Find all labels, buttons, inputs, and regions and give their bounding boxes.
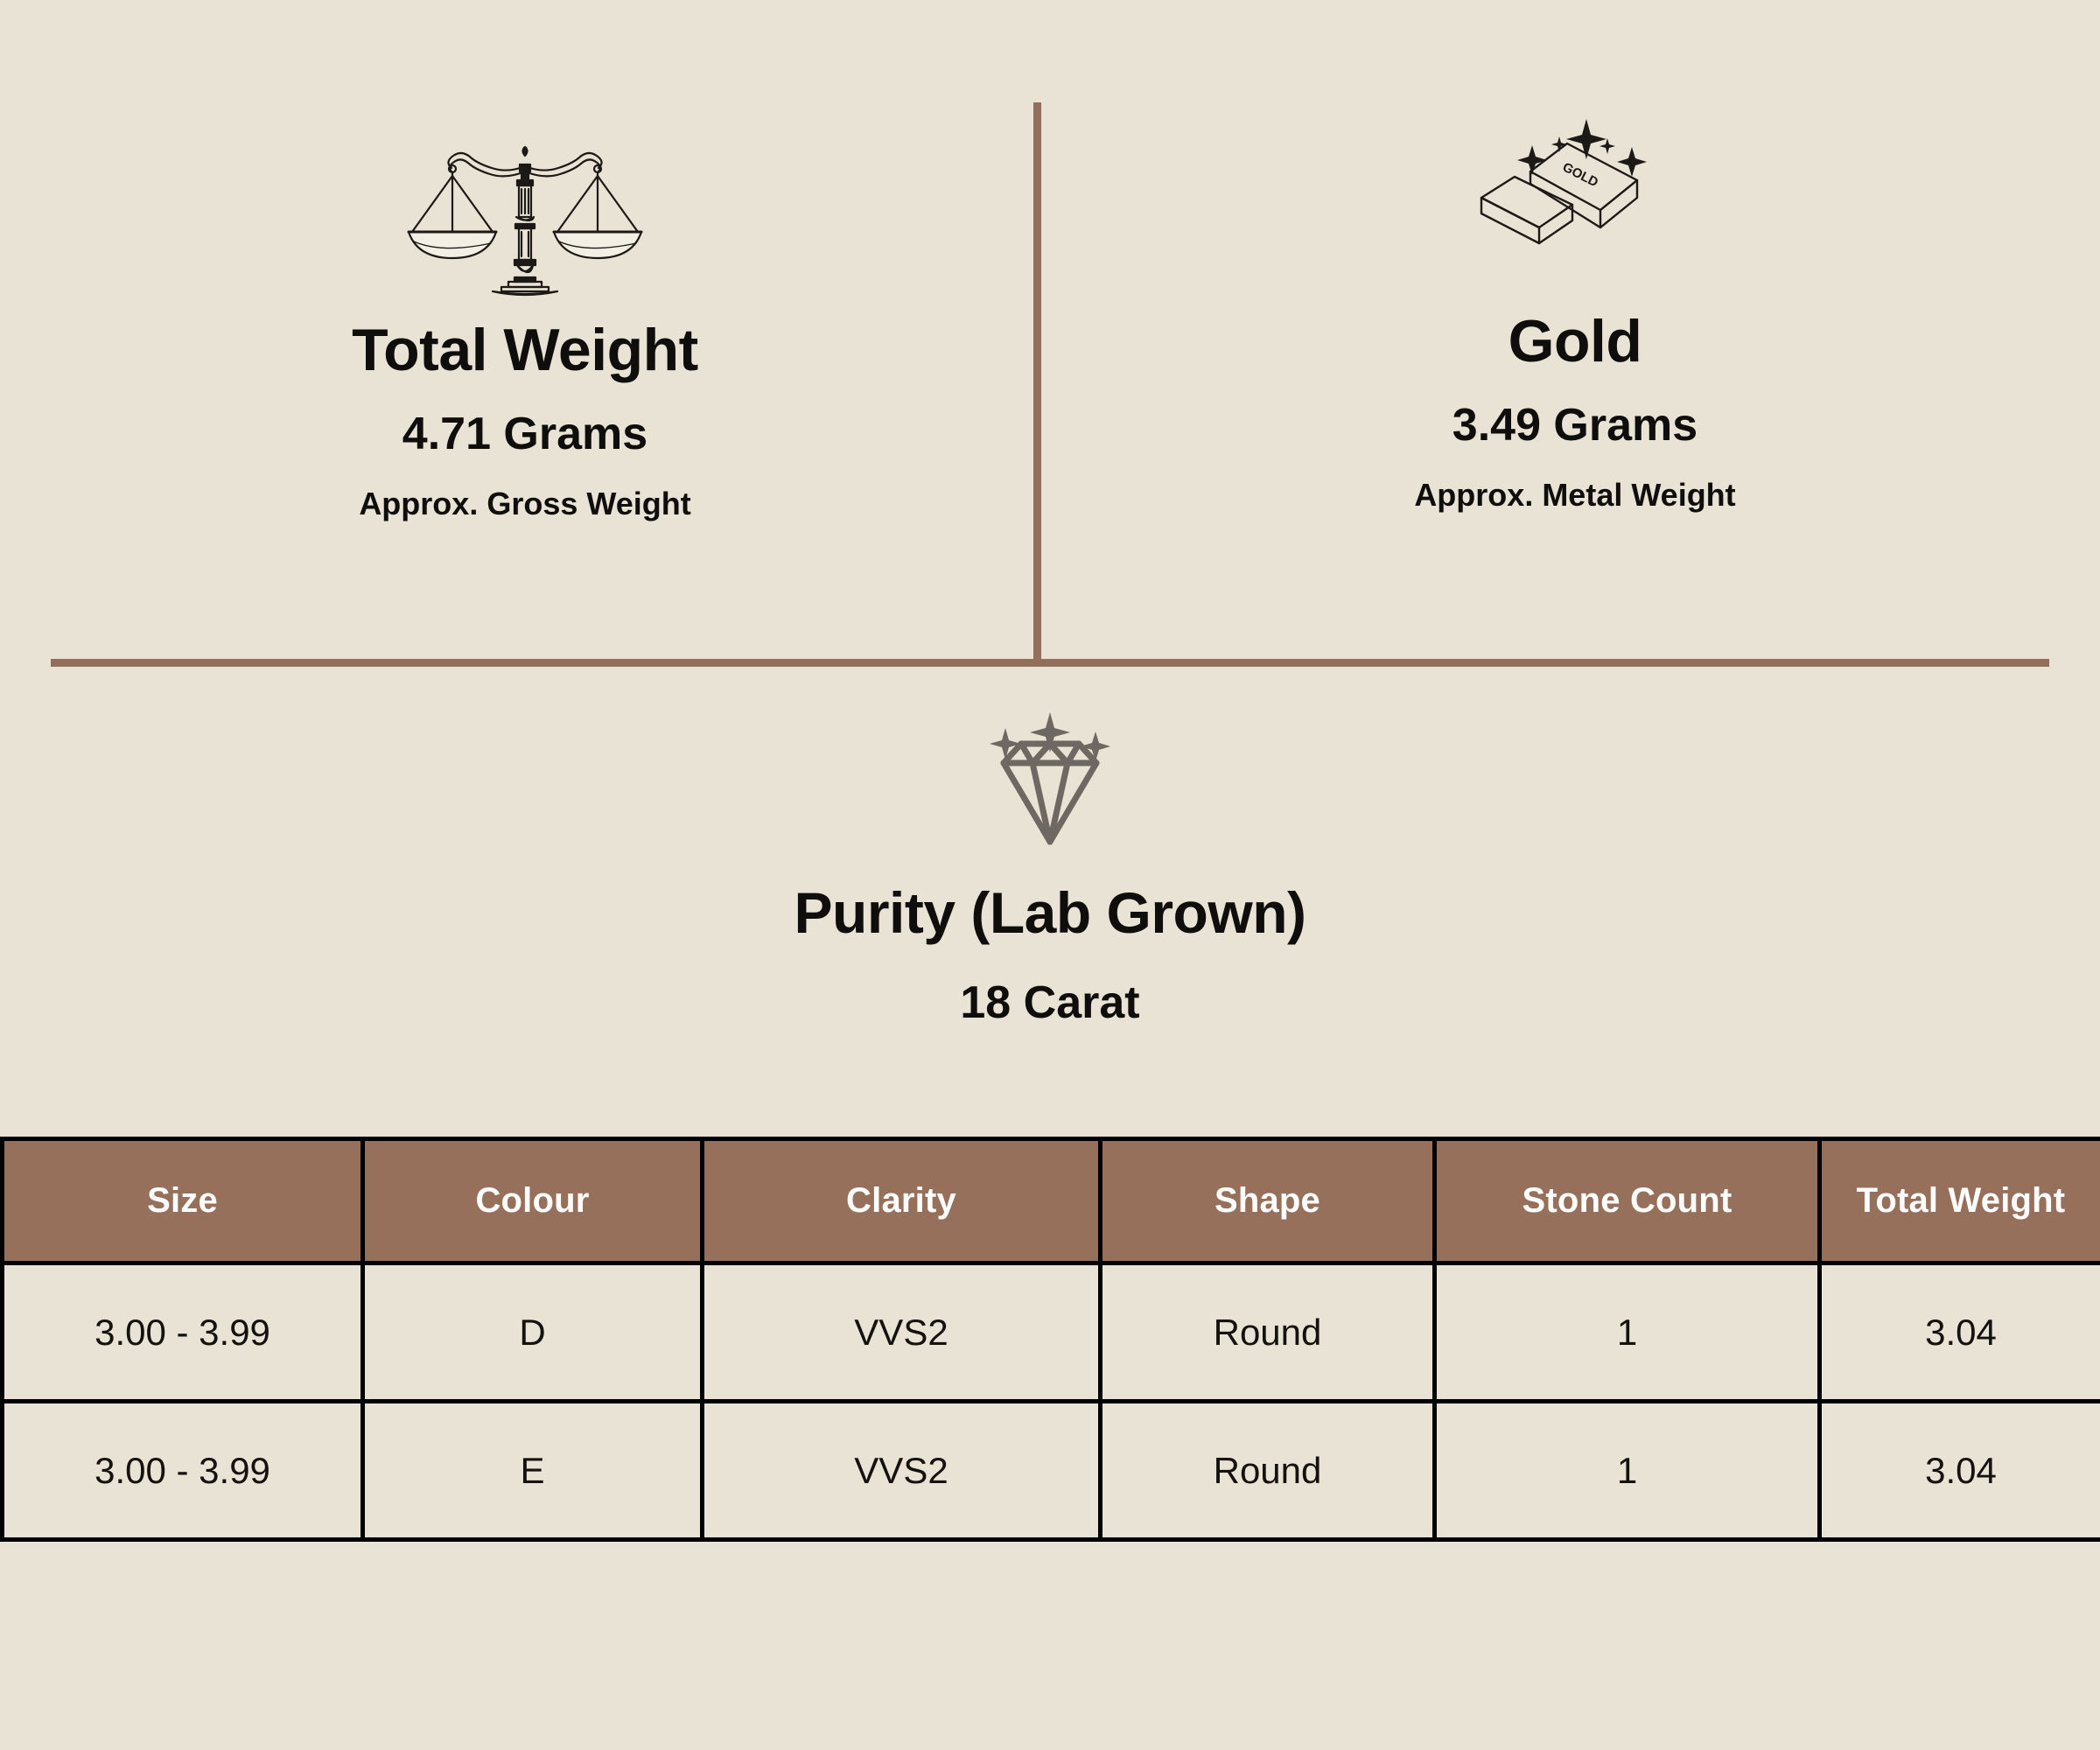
cell-colour: E xyxy=(363,1402,703,1540)
panel-value: 4.71 Grams xyxy=(402,411,647,457)
column-header-clarity: Clarity xyxy=(703,1139,1101,1263)
panel-gold: GOLD Gold 3.49 Grams Approx. Metal Weigh… xyxy=(1050,0,2100,662)
panel-caption: Approx. Metal Weight xyxy=(1414,479,1735,511)
panel-title: Total Weight xyxy=(352,320,698,380)
balance-scale-icon xyxy=(398,131,652,297)
table-row: 3.00 - 3.99 D VVS2 Round 1 3.04 xyxy=(3,1263,2100,1402)
gold-bar-label: GOLD xyxy=(1560,160,1600,191)
column-header-size: Size xyxy=(3,1139,363,1263)
cell-shape: Round xyxy=(1101,1402,1435,1540)
summary-panels: Total Weight 4.71 Grams Approx. Gross We… xyxy=(0,0,2100,662)
cell-stone-count: 1 xyxy=(1435,1263,1820,1402)
stone-spec-table: Size Colour Clarity Shape Stone Count To… xyxy=(0,1137,2100,1542)
jewellery-spec-sheet: Total Weight 4.71 Grams Approx. Gross We… xyxy=(0,0,2100,1750)
column-header-shape: Shape xyxy=(1101,1139,1435,1263)
vertical-divider xyxy=(1033,102,1041,667)
gold-bars-icon: GOLD xyxy=(1474,122,1676,289)
cell-size: 3.00 - 3.99 xyxy=(3,1263,363,1402)
column-header-stone-count: Stone Count xyxy=(1435,1139,1820,1263)
purity-value: 18 Carat xyxy=(960,980,1139,1025)
panel-total-weight: Total Weight 4.71 Grams Approx. Gross We… xyxy=(0,0,1050,662)
table-header-row: Size Colour Clarity Shape Stone Count To… xyxy=(3,1139,2100,1263)
cell-colour: D xyxy=(363,1263,703,1402)
cell-size: 3.00 - 3.99 xyxy=(3,1402,363,1540)
column-header-total-weight: Total Weight xyxy=(1820,1139,2100,1263)
purity-section: Purity (Lab Grown) 18 Carat xyxy=(0,709,2100,1025)
panel-value: 3.49 Grams xyxy=(1452,402,1697,448)
panel-caption: Approx. Gross Weight xyxy=(359,488,690,520)
horizontal-divider xyxy=(51,659,2049,667)
cell-clarity: VVS2 xyxy=(703,1402,1101,1540)
cell-total-weight: 3.04 xyxy=(1820,1263,2100,1402)
cell-stone-count: 1 xyxy=(1435,1402,1820,1540)
table-row: 3.00 - 3.99 E VVS2 Round 1 3.04 xyxy=(3,1402,2100,1540)
cell-total-weight: 3.04 xyxy=(1820,1402,2100,1540)
cell-shape: Round xyxy=(1101,1263,1435,1402)
cell-clarity: VVS2 xyxy=(703,1263,1101,1402)
panel-title: Gold xyxy=(1508,311,1642,371)
purity-title: Purity (Lab Grown) xyxy=(794,884,1306,941)
stone-spec-table-wrapper: Size Colour Clarity Shape Stone Count To… xyxy=(0,1137,2100,1542)
diamond-icon xyxy=(967,709,1133,849)
column-header-colour: Colour xyxy=(363,1139,703,1263)
